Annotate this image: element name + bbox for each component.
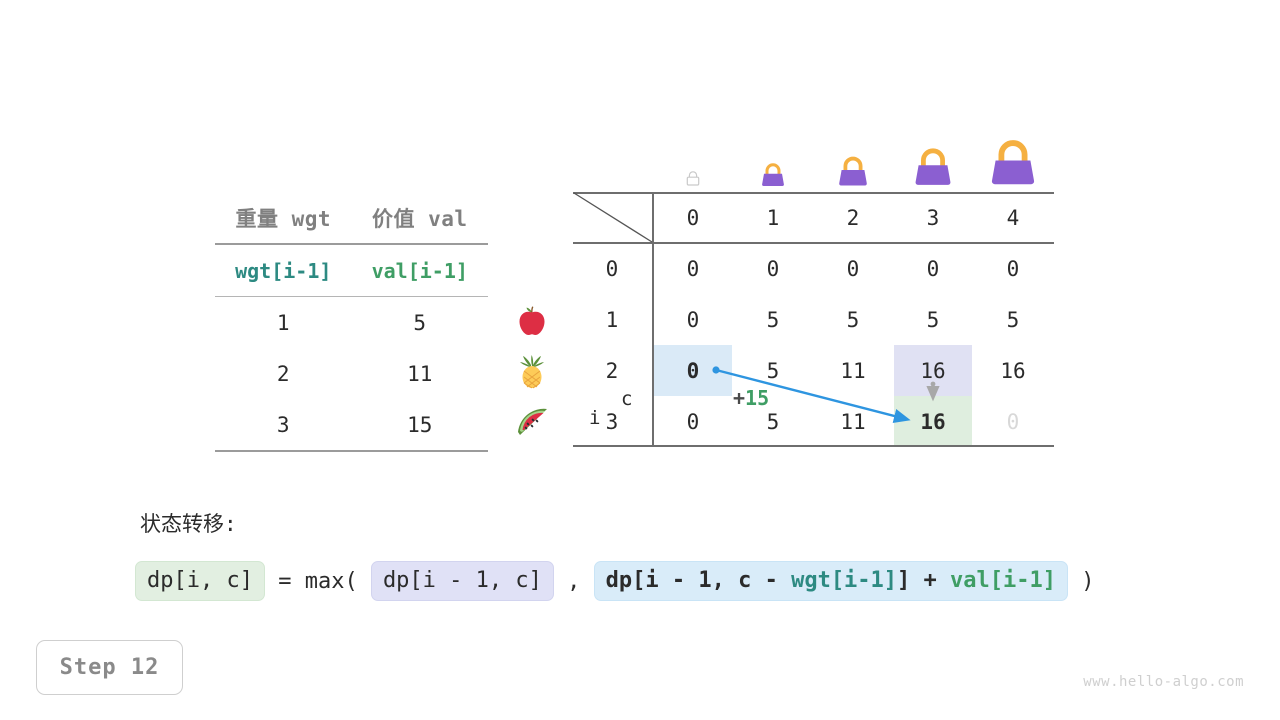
dp-cell-1-2: 5 — [814, 294, 892, 345]
dp-cell-1-3: 5 — [894, 294, 972, 345]
dp-cell-2-0: 0 — [654, 345, 732, 396]
item-table-subheader-wgt: wgt[i-1] — [215, 259, 352, 283]
plus-sign: + — [733, 386, 745, 410]
item-wgt-1: 1 — [215, 311, 352, 335]
formula-take-val: val[i-1] — [950, 568, 1056, 593]
fruit-icon-column — [508, 295, 556, 448]
formula-take-wgt: wgt[i-1] — [791, 568, 897, 593]
formula-option-skip: dp[i - 1, c] — [371, 561, 554, 601]
item-table-rule-bottom — [215, 450, 488, 452]
item-val-3: 15 — [352, 413, 489, 437]
dp-col-header-3: 3 — [894, 192, 972, 243]
formula-take-prefix: dp[i - 1, c - — [606, 568, 791, 593]
dp-table: c i 0 1 2 3 4 0 1 2 3 0 0 0 0 0 0 5 5 5 … — [573, 192, 1054, 444]
dp-col-header-1: 1 — [734, 192, 812, 243]
item-table-header-val: 价值 val — [352, 203, 489, 233]
item-wgt-3: 3 — [215, 413, 352, 437]
watermelon-icon — [508, 397, 556, 448]
state-transition-formula: dp[i, c] = max( dp[i - 1, c] , dp[i - 1,… — [135, 559, 1095, 603]
bag-icon-empty — [654, 126, 732, 188]
apple-icon — [508, 295, 556, 346]
pineapple-icon — [508, 346, 556, 397]
item-table: 重量 wgt 价值 val wgt[i-1] val[i-1] 1 5 2 11… — [215, 192, 488, 452]
dp-cell-1-0: 0 — [654, 294, 732, 345]
dp-cell-1-4: 5 — [974, 294, 1052, 345]
item-wgt-2: 2 — [215, 362, 352, 386]
dp-cell-0-0: 0 — [654, 243, 732, 294]
dp-cell-0-2: 0 — [814, 243, 892, 294]
dp-row-header-2: 2 — [573, 345, 651, 396]
bag-icon-1 — [734, 126, 812, 188]
dp-row-header-3: 3 — [573, 396, 651, 447]
dp-cell-1-1: 5 — [734, 294, 812, 345]
dp-cell-3-3: 16 — [894, 396, 972, 447]
dp-row-header-0: 0 — [573, 243, 651, 294]
dp-col-header-0: 0 — [654, 192, 732, 243]
dp-row-header-1: 1 — [573, 294, 651, 345]
slide-canvas: 重量 wgt 价值 val wgt[i-1] val[i-1] 1 5 2 11… — [0, 0, 1280, 720]
bag-icon-4 — [974, 126, 1052, 188]
item-table-row: 2 11 — [215, 348, 488, 399]
step-badge: Step 12 — [36, 640, 183, 695]
item-table-row: 1 5 — [215, 297, 488, 348]
dp-cell-2-3: 16 — [894, 345, 972, 396]
formula-close: ) — [1068, 569, 1095, 594]
dp-cell-0-1: 0 — [734, 243, 812, 294]
formula-take-mid: ] + — [897, 568, 950, 593]
item-table-row: 3 15 — [215, 399, 488, 450]
bag-icon-2 — [814, 126, 892, 188]
dp-col-header-2: 2 — [814, 192, 892, 243]
item-val-1: 5 — [352, 311, 489, 335]
bag-icon-row — [573, 126, 1054, 188]
watermark: www.hello-algo.com — [1083, 674, 1244, 690]
dp-cell-2-2: 11 — [814, 345, 892, 396]
dp-corner-diagonal-icon — [573, 192, 655, 244]
dp-cell-0-3: 0 — [894, 243, 972, 294]
dp-cell-3-4: 0 — [974, 396, 1052, 447]
dp-cell-2-4: 16 — [974, 345, 1052, 396]
dp-cell-3-2: 11 — [814, 396, 892, 447]
item-table-header-row: 重量 wgt 价值 val — [215, 192, 488, 243]
formula-option-take: dp[i - 1, c - wgt[i-1]] + val[i-1] — [594, 561, 1068, 601]
dp-cell-3-0: 0 — [654, 396, 732, 447]
dp-rule-bottom — [573, 445, 1054, 447]
item-val-2: 11 — [352, 362, 489, 386]
plus-amount: 15 — [745, 386, 769, 410]
plus-value-annotation: +15 — [733, 386, 769, 410]
formula-separator: , — [554, 569, 594, 594]
item-table-subheader-row: wgt[i-1] val[i-1] — [215, 245, 488, 296]
item-table-header-wgt: 重量 wgt — [215, 203, 352, 233]
state-transition-label: 状态转移: — [140, 508, 237, 538]
item-table-subheader-val: val[i-1] — [352, 259, 489, 283]
dp-cell-0-4: 0 — [974, 243, 1052, 294]
formula-eq: = max( — [265, 569, 371, 594]
formula-lhs: dp[i, c] — [135, 561, 265, 601]
dp-col-header-4: 4 — [974, 192, 1052, 243]
bag-icon-3 — [894, 126, 972, 188]
